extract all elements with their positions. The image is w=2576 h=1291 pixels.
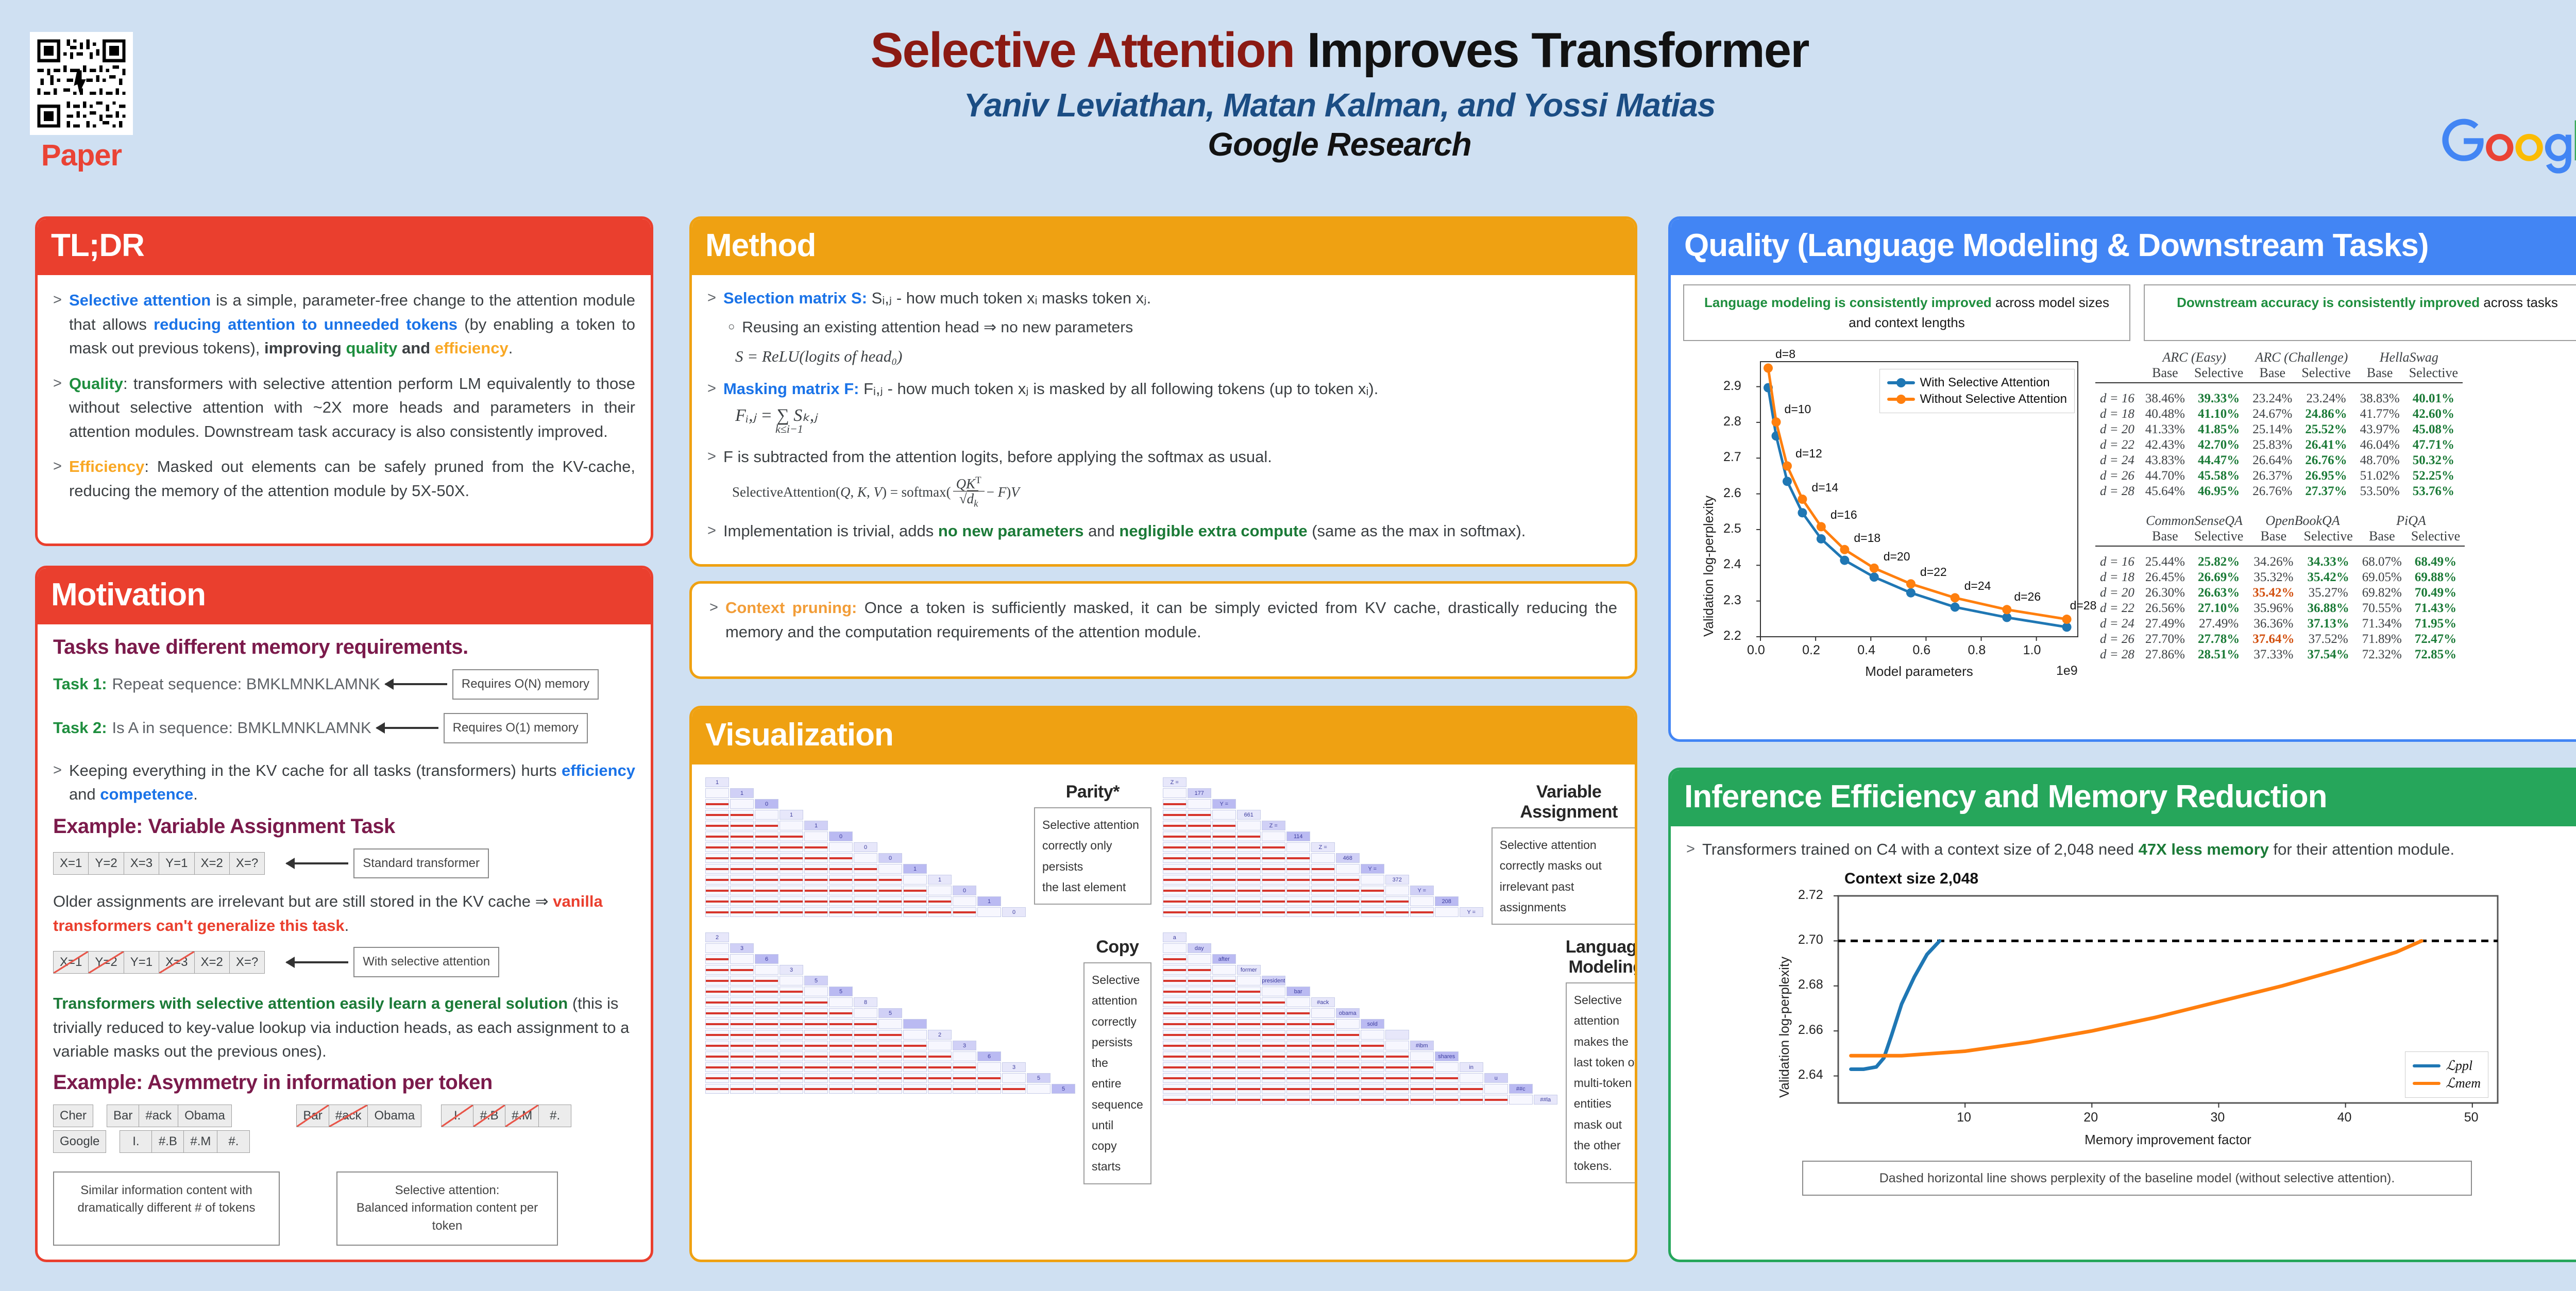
attention-token: 1 — [938, 877, 941, 883]
mask-strike — [706, 814, 728, 816]
attention-cell — [854, 875, 877, 885]
token-strip-initials-masked: I.#.B#.M#. — [441, 1105, 571, 1127]
chart-legend: With Selective Attention Without Selecti… — [1879, 369, 2075, 413]
attention-cell — [705, 1084, 729, 1094]
attention-cell: 468 — [1336, 853, 1360, 863]
attention-token: 1 — [988, 898, 991, 905]
mask-strike — [1312, 1056, 1334, 1058]
attention-cell — [1460, 1073, 1483, 1083]
method-f-subtracted-bullet: > F is subtracted from the attention log… — [707, 445, 1619, 469]
mask-strike — [706, 1023, 728, 1025]
attention-cell — [779, 1073, 803, 1083]
attention-cell — [1163, 1095, 1187, 1105]
x-axis-tick: 30 — [2210, 1110, 2225, 1125]
attention-cell — [1212, 907, 1236, 917]
attention-cell — [1509, 1095, 1533, 1105]
attention-cell — [730, 965, 754, 975]
token: Y=1 — [159, 853, 194, 874]
token: X=2 — [195, 952, 230, 973]
attention-cell: 1 — [779, 810, 803, 820]
attention-cell — [1385, 1095, 1409, 1105]
attention-token: Z = — [1319, 844, 1327, 851]
title-accent: Selective Attention — [870, 23, 1294, 78]
attention-token: sold — [1367, 1021, 1378, 1027]
table-cell: 45.58% — [2190, 468, 2248, 484]
visualization-panel-side: Copy Selective attentioncorrectly persis… — [1083, 932, 1151, 1184]
mask-strike — [706, 857, 728, 859]
visualization-panel-side: Variable Assignment Selective attentionc… — [1492, 777, 1637, 925]
mask-strike — [805, 911, 827, 913]
mask-strike — [1312, 1066, 1334, 1068]
attention-cell: 1 — [804, 821, 828, 830]
attention-row: 468 — [1163, 853, 1484, 863]
attention-cell — [1311, 853, 1335, 863]
mask-strike — [1287, 1045, 1310, 1047]
visualization-panel-side: Parity* Selective attentioncorrectly onl… — [1034, 777, 1151, 905]
attention-cell — [755, 853, 778, 863]
table-row: d = 2242.43%42.70%25.83%26.41%46.04%47.7… — [2095, 437, 2463, 453]
attention-cell — [878, 1019, 902, 1029]
attention-cell — [829, 1062, 853, 1072]
attention-cell — [1212, 1030, 1236, 1040]
attention-cell — [1163, 997, 1187, 1007]
attention-row: 6 — [705, 954, 1076, 964]
mask-strike — [731, 846, 753, 848]
attention-cell: 5 — [878, 1008, 902, 1018]
y-axis-tick: 2.4 — [1723, 557, 1741, 572]
table-cell: 69.82% — [2358, 585, 2406, 601]
attention-cell — [1188, 886, 1211, 895]
attention-cell — [1262, 875, 1285, 885]
attention-cell — [705, 943, 729, 953]
table-cell: 47.71% — [2404, 437, 2463, 453]
paper-link-label[interactable]: Paper — [30, 138, 133, 173]
table-cell: 71.89% — [2358, 632, 2406, 647]
visualization-panel-callout: Selective attentioncorrectly only persis… — [1034, 807, 1151, 905]
attention-cell — [953, 1062, 976, 1072]
attention-cell — [829, 886, 853, 895]
table-subheader: Base — [2248, 529, 2299, 545]
table-group-header: HellaSwag — [2355, 349, 2463, 365]
table-cell: 46.95% — [2190, 484, 2248, 499]
results-table-1: ARC (Easy)ARC (Challenge)HellaSwagBaseSe… — [2095, 349, 2576, 499]
mask-strike — [755, 911, 778, 913]
mask-strike — [1262, 1023, 1285, 1025]
mask-strike — [1361, 901, 1384, 903]
attention-cell — [1262, 987, 1285, 996]
attention-cell — [1237, 1084, 1261, 1094]
table-subheader: Selective — [2404, 365, 2463, 381]
table-cell: 27.49% — [2141, 616, 2190, 632]
task-2-label: Task 2: — [53, 719, 107, 737]
mask-strike — [805, 879, 827, 881]
table-cell: 24.86% — [2297, 406, 2355, 422]
attention-cell — [705, 965, 729, 975]
attention-cell — [1286, 1084, 1310, 1094]
attention-cell — [1212, 1062, 1236, 1072]
panel-tldr: TL;DR > Selective attention is a simple,… — [35, 216, 653, 546]
table-row-label: d = 28 — [2095, 647, 2141, 663]
attention-cell: a — [1163, 932, 1187, 942]
quality-tables: ARC (Easy)ARC (Challenge)HellaSwagBaseSe… — [2095, 346, 2576, 686]
mask-strike — [978, 1088, 1001, 1090]
attention-cell — [1385, 1073, 1409, 1083]
mask-strike — [953, 911, 976, 913]
attention-token: former — [1241, 967, 1257, 973]
attention-cell — [779, 1008, 803, 1018]
attention-token: Z = — [1269, 823, 1278, 829]
mask-strike — [854, 1056, 877, 1058]
table-cell: 70.49% — [2406, 585, 2465, 601]
callout-line: correctly only persists — [1042, 835, 1143, 877]
attention-row: 3 — [705, 943, 1076, 954]
attention-cell — [829, 842, 853, 852]
attention-cell — [1286, 1041, 1310, 1050]
selection-matrix-label: Selection matrix S: — [723, 289, 867, 307]
motivation-kv-bullet-text: Keeping everything in the KV cache for a… — [69, 759, 635, 807]
attention-row: 1 — [705, 874, 1027, 885]
mask-strike — [1262, 1045, 1285, 1047]
affiliation: Google Research — [464, 125, 2215, 163]
mask-strike — [829, 1077, 852, 1079]
mask-strike — [1262, 1099, 1285, 1101]
attention-cell — [1410, 1062, 1434, 1072]
data-point-annotation: d=16 — [1831, 508, 1857, 522]
mask-strike — [1213, 890, 1235, 892]
attention-row: 114 — [1163, 831, 1484, 842]
attention-cell — [755, 896, 778, 906]
y-axis-tick: 2.9 — [1723, 379, 1741, 394]
table-cell: 37.52% — [2299, 632, 2358, 647]
asymmetry-row: Cher Bar#ackObama Google I.#.B#.M#. Bar#… — [53, 1105, 635, 1153]
attention-row: 177 — [1163, 788, 1484, 799]
mask-strike — [731, 1012, 753, 1014]
attention-row: 0 — [705, 907, 1027, 918]
table-cell: 42.70% — [2190, 437, 2248, 453]
data-point-annotation: d=18 — [1854, 531, 1880, 545]
attention-matrix: 1 1 — [705, 777, 1027, 918]
table-cell: 23.24% — [2297, 391, 2355, 406]
inference-bullet-text: Transformers trained on C4 with a contex… — [1702, 838, 2576, 862]
panel-method-body: > Selection matrix S: Sᵢ,ⱼ - how much to… — [692, 275, 1635, 554]
variable-assignment-standard-row: X=1Y=2X=3Y=1X=2X=? Standard transformer — [53, 848, 635, 879]
attention-cell: 0 — [953, 886, 976, 895]
mask-strike — [755, 1034, 778, 1036]
mask-strike — [854, 1034, 877, 1036]
attention-cell — [755, 1073, 778, 1083]
mask-strike — [731, 901, 753, 903]
x-axis-tick: 1.0 — [2023, 643, 2041, 658]
attention-cell — [804, 831, 828, 841]
table-row: d = 2226.56%27.10%35.96%36.88%70.55%71.4… — [2095, 601, 2465, 616]
attention-row: 6 — [705, 1051, 1076, 1062]
table-cell: 27.37% — [2297, 484, 2355, 499]
attention-cell — [1336, 1073, 1360, 1083]
table-cell: 44.47% — [2190, 453, 2248, 468]
mask-strike — [1163, 958, 1186, 960]
mask-strike — [1213, 1066, 1235, 1068]
mask-strike — [755, 846, 778, 848]
attention-cell — [1237, 1062, 1261, 1072]
table-row-label: d = 22 — [2095, 601, 2141, 616]
attention-cell — [854, 896, 877, 906]
visualization-panel-callout: Selective attentioncorrectly persists th… — [1083, 962, 1151, 1184]
mask-strike — [1287, 1012, 1310, 1014]
attention-cell — [1163, 987, 1187, 996]
attention-cell — [705, 976, 729, 986]
attention-cell — [1237, 821, 1261, 830]
mask-strike — [928, 911, 951, 913]
mask-strike — [1163, 1056, 1186, 1058]
mask-strike — [829, 1088, 852, 1090]
callout-line: copy starts — [1092, 1135, 1143, 1177]
attention-token: 5 — [889, 1010, 892, 1016]
attention-cell — [1188, 842, 1211, 852]
attention-cell — [1237, 864, 1261, 874]
attention-cell — [1435, 1062, 1459, 1072]
attention-cell — [1385, 1062, 1409, 1072]
attention-cell — [705, 842, 729, 852]
task-1-text: Repeat sequence: BMKLMNKLAMNK — [112, 675, 380, 693]
table-cell: 26.76% — [2297, 453, 2355, 468]
table-subheader: Selective — [2297, 365, 2355, 381]
arrow-icon — [286, 961, 348, 963]
mask-strike — [1287, 857, 1310, 859]
attention-cell — [1361, 907, 1384, 917]
mask-strike — [1213, 846, 1235, 848]
attention-cell — [1212, 886, 1236, 895]
table-cell: 44.70% — [2141, 468, 2190, 484]
table-row-label: d = 28 — [2095, 484, 2141, 499]
table-row: d = 1826.45%26.69%35.32%35.42%69.05%69.8… — [2095, 570, 2465, 585]
mask-strike — [1213, 1056, 1235, 1058]
chevron-right-icon: > — [1686, 838, 1695, 862]
attention-cell — [829, 875, 853, 885]
attention-cell — [1237, 886, 1261, 895]
attention-cell — [1311, 875, 1335, 885]
attention-cell — [779, 853, 803, 863]
mask-strike — [1312, 1077, 1334, 1079]
attention-row: 0 — [705, 831, 1027, 842]
mask-strike — [1238, 1045, 1260, 1047]
attention-cell — [1002, 1084, 1026, 1094]
mask-strike — [1213, 1023, 1235, 1025]
x-axis-tick: 0.8 — [1968, 643, 1986, 658]
attention-cell — [854, 864, 877, 874]
attention-cell — [730, 799, 754, 809]
mask-strike — [1188, 1088, 1211, 1090]
attention-cell — [1188, 997, 1211, 1007]
attention-cell — [1188, 1030, 1211, 1040]
attention-row: after — [1163, 954, 1558, 964]
motivation-subtitle-3: Example: Asymmetry in information per to… — [53, 1071, 635, 1094]
attention-row: 3 — [705, 964, 1076, 975]
table-cell: 38.83% — [2355, 391, 2404, 406]
attention-cell — [1410, 1073, 1434, 1083]
y-axis-tick: 2.70 — [1798, 932, 1823, 947]
attention-cell — [730, 954, 754, 964]
table-cell: 36.36% — [2248, 616, 2299, 632]
table-cell: 27.78% — [2190, 632, 2248, 647]
legend-swatch — [1887, 398, 1915, 401]
attention-row: #ibm — [1163, 1040, 1558, 1051]
attention-cell — [1163, 954, 1187, 964]
table-cell: 40.48% — [2141, 406, 2190, 422]
attention-cell — [1237, 907, 1261, 917]
attention-cell — [1336, 907, 1360, 917]
attention-token: 1 — [913, 866, 917, 872]
mask-strike — [731, 1066, 753, 1068]
attention-token: 8 — [864, 999, 867, 1006]
legend-item: With Selective Attention — [1887, 376, 2067, 390]
panel-motivation-body: Tasks have different memory requirements… — [38, 624, 651, 1256]
table-cell: 35.32% — [2248, 570, 2299, 585]
attention-row: Z = — [1163, 777, 1484, 788]
attention-cell — [829, 864, 853, 874]
attention-cell — [705, 1062, 729, 1072]
token: Obama — [368, 1105, 421, 1127]
attention-cell — [779, 976, 803, 986]
table-cell: 40.01% — [2404, 391, 2463, 406]
mask-strike — [1312, 1099, 1334, 1101]
attention-cell — [1385, 1084, 1409, 1094]
attention-cell — [730, 1030, 754, 1040]
y-axis-tick: 2.3 — [1723, 593, 1741, 608]
mask-strike — [1163, 857, 1186, 859]
attention-cell — [878, 1051, 902, 1061]
attention-cell: 177 — [1188, 788, 1211, 798]
mask-strike — [780, 879, 803, 881]
mask-strike — [706, 1077, 728, 1079]
panel-inference-body: > Transformers trained on C4 with a cont… — [1671, 826, 2576, 1207]
callout-line: mask out the other — [1574, 1114, 1637, 1156]
attention-row: 5 — [705, 986, 1076, 997]
attention-cell — [1262, 1008, 1285, 1018]
mask-strike — [1003, 1088, 1025, 1090]
table-row-label: d = 18 — [2095, 406, 2141, 422]
mask-strike — [1163, 879, 1186, 881]
mask-strike — [1312, 1023, 1334, 1025]
attention-token: 5 — [1037, 1075, 1040, 1081]
attention-cell — [705, 821, 729, 830]
attention-token: 3 — [963, 1043, 966, 1049]
x-axis-tick: 20 — [2083, 1110, 2098, 1125]
mask-strike — [1213, 1001, 1235, 1004]
attention-row: ##c — [1163, 1083, 1558, 1094]
attention-cell — [1262, 997, 1285, 1007]
mask-strike — [1460, 1088, 1483, 1090]
table-cell: 39.33% — [2190, 391, 2248, 406]
attention-cell — [1336, 886, 1360, 895]
attention-cell — [705, 1008, 729, 1018]
attention-cell — [779, 1041, 803, 1050]
table-cell: 34.33% — [2299, 554, 2358, 570]
attention-row: u — [1163, 1073, 1558, 1083]
mask-strike — [1411, 911, 1433, 913]
mask-strike — [1312, 911, 1334, 913]
attention-cell — [1163, 976, 1187, 986]
mask-strike — [1287, 890, 1310, 892]
y-axis-tick: 2.66 — [1798, 1023, 1823, 1038]
mask-strike — [1163, 825, 1186, 827]
attention-token: 2 — [716, 935, 719, 941]
attention-token: 6 — [988, 1054, 991, 1060]
mask-strike — [1361, 1056, 1384, 1058]
mask-strike — [731, 1045, 753, 1047]
mask-strike — [1163, 1088, 1186, 1090]
table-cell: 50.32% — [2404, 453, 2463, 468]
masking-matrix-text: Fᵢ,ⱼ - how much token xⱼ is masked by al… — [859, 380, 1379, 398]
mask-strike — [1336, 911, 1359, 913]
attention-cell — [953, 896, 976, 906]
mask-strike — [755, 1045, 778, 1047]
attention-cell — [755, 1019, 778, 1029]
attention-cell — [705, 954, 729, 964]
attention-cell — [1361, 1041, 1384, 1050]
visualization-panel: Z = 177 — [1163, 777, 1637, 925]
attention-cell — [779, 896, 803, 906]
attention-cell: 0 — [1002, 907, 1026, 917]
table-cell: 26.76% — [2248, 484, 2297, 499]
mask-strike — [1287, 1023, 1310, 1025]
table-row: d = 2041.33%41.85%25.14%25.52%43.97%45.0… — [2095, 422, 2463, 437]
mask-strike — [731, 980, 753, 982]
mask-strike — [1163, 803, 1186, 805]
table-cell: 26.30% — [2141, 585, 2190, 601]
attention-cell — [779, 875, 803, 885]
attention-cell — [1410, 1095, 1434, 1105]
mask-strike — [1188, 1099, 1211, 1101]
attention-cell — [1212, 831, 1236, 841]
mask-strike — [706, 1045, 728, 1047]
panel-tldr-heading: TL;DR — [38, 219, 651, 275]
table-cell: 26.64% — [2248, 453, 2297, 468]
mask-strike — [706, 1066, 728, 1068]
mask-strike — [805, 901, 827, 903]
token-strip-google: Google — [53, 1130, 106, 1153]
table-cell: 68.49% — [2406, 554, 2465, 570]
attention-cell — [854, 853, 877, 863]
panel-quality-heading: Quality (Language Modeling & Downstream … — [1671, 219, 2576, 275]
attention-row — [1163, 1029, 1558, 1040]
mask-strike — [879, 1066, 902, 1068]
method-masking-matrix-bullet: > Masking matrix F: Fᵢ,ⱼ - how much toke… — [707, 377, 1619, 401]
mask-strike — [805, 1088, 827, 1090]
attention-cell — [1163, 788, 1187, 798]
implementation-text: Implementation is trivial, adds no new p… — [723, 519, 1619, 543]
mask-strike — [829, 1034, 852, 1036]
attention-cell — [829, 907, 853, 917]
attention-cell — [1336, 1095, 1360, 1105]
attention-cell — [705, 1073, 729, 1083]
qr-block[interactable]: Paper — [30, 32, 133, 173]
attention-matrix: 2 3 — [705, 932, 1076, 1094]
attention-cell — [755, 1062, 778, 1072]
data-point-annotation: d=12 — [1795, 447, 1822, 461]
qr-code-icon[interactable] — [30, 32, 133, 135]
attention-cell: #ibm — [1410, 1041, 1434, 1050]
attention-cell — [854, 1051, 877, 1061]
attention-cell: shares — [1435, 1051, 1459, 1061]
mask-strike — [780, 901, 803, 903]
attention-cell — [1410, 1084, 1434, 1094]
attention-cell — [730, 987, 754, 996]
mask-strike — [1163, 846, 1186, 848]
attention-token: after — [1218, 956, 1230, 962]
asymmetry-right: Bar#ackObama I.#.B#.M#. — [296, 1105, 571, 1153]
mask-strike — [904, 1045, 926, 1047]
mask-strike — [1361, 890, 1384, 892]
